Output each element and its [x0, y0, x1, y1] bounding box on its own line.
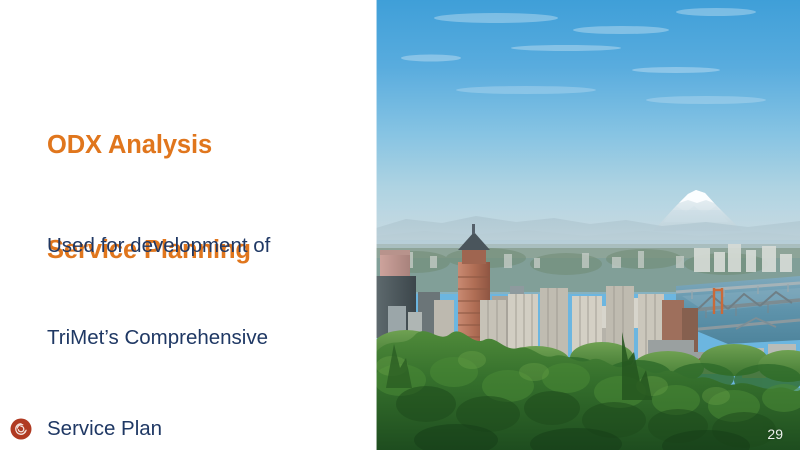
slide-title-line-1: ODX Analysis	[47, 128, 347, 163]
slide-body-line-3: Service Plan	[47, 414, 357, 445]
slide-body-text: Used for development of TriMet’s Compreh…	[47, 170, 357, 450]
photo-left-edge	[376, 0, 377, 450]
slide-canvas: ODX Analysis Service Planning Used for d…	[0, 0, 800, 450]
text-panel: ODX Analysis Service Planning Used for d…	[0, 0, 376, 450]
spiral-circle-logo-icon	[10, 418, 32, 440]
slide-body-line-2: TriMet’s Comprehensive	[47, 323, 357, 354]
portland-skyline-photo: 29	[376, 0, 800, 450]
page-number: 29	[767, 427, 783, 441]
slide-body-line-1: Used for development of	[47, 231, 357, 262]
